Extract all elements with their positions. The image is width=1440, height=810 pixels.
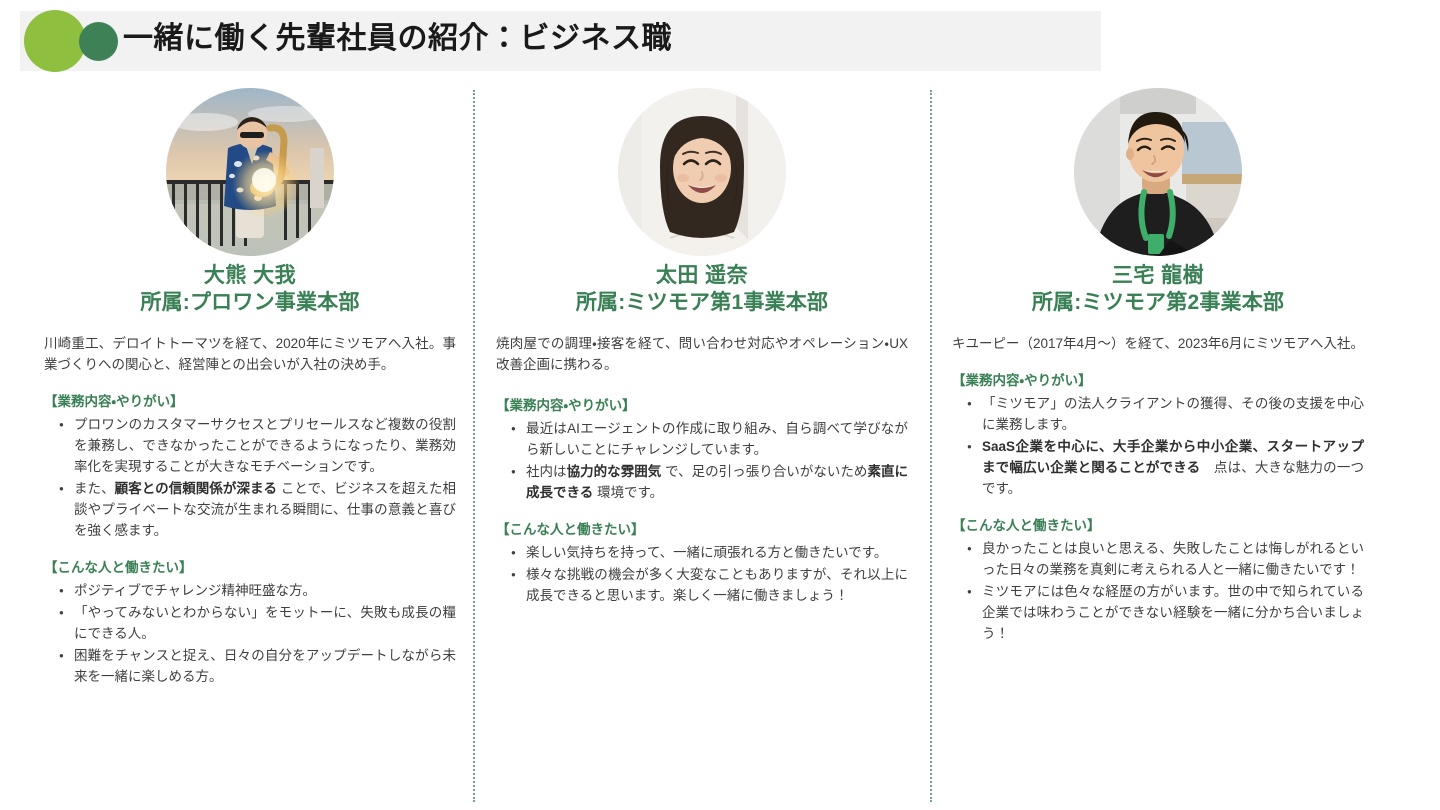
- list-item: 最近はAIエージェントの作成に取り組み、自ら調べて学びながら新しいことにチャレン…: [526, 418, 908, 460]
- people-bullet-list: 楽しい気持ちを持って、一緒に頑張れる方と働きたいです。様々な挑戦の機会が多く大変…: [496, 542, 908, 606]
- people-bullet-list: ポジティブでチャレンジ精神旺盛な方。「やってみないとわからない」をモットーに、失…: [44, 580, 456, 687]
- profile-affiliation: 所属:プロワン事業本部: [40, 289, 460, 317]
- list-item: 「やってみないとわからない」をモットーに、失敗も成長の糧にできる人。: [74, 602, 456, 644]
- profile-card-2: 三宅 龍樹 所属:ミツモア第2事業本部 キユーピー（2017年4月～）を経て、2…: [948, 82, 1368, 810]
- list-item: 社内は協力的な雰囲気 で、足の引っ張り合いがないため素直に成長できる 環境です。: [526, 461, 908, 503]
- list-item: 様々な挑戦の機会が多く大変なこともありますが、それ以上に成長できると思います。楽…: [526, 564, 908, 606]
- list-item: ミツモアには色々な経歴の方がいます。世の中で知られている企業では味わうことができ…: [982, 581, 1364, 644]
- profile-name: 三宅 龍樹: [948, 263, 1368, 289]
- work-bullet-list: プロワンのカスタマーサクセスとプリセールスなど複数の役割を兼務し、できなかったこ…: [44, 414, 456, 541]
- list-item: また、顧客との信頼関係が深まる ことで、ビジネスを超えた相談やプライベートな交流…: [74, 478, 456, 541]
- avatar: [618, 88, 786, 256]
- avatar-wrap: [492, 82, 912, 257]
- section-title-people: 【こんな人と働きたい】: [952, 515, 1364, 536]
- profile-affiliation: 所属:ミツモア第1事業本部: [492, 289, 912, 317]
- avatar-wrap: [40, 82, 460, 257]
- profile-body: 焼肉屋での調理・接客を経て、問い合わせ対応やオペレーション・UX改善企画に携わる…: [492, 333, 912, 606]
- profile-name: 太田 遥奈: [492, 263, 912, 289]
- list-item: 困難をチャンスと捉え、日々の自分をアップデートしながら未来を一緒に楽しめる方。: [74, 645, 456, 687]
- page-header: 一緒に働く先輩社員の紹介：ビジネス職: [0, 0, 1440, 82]
- portrait-man-lanyard-icon: [1074, 88, 1242, 256]
- list-item: 「ミツモア」の法人クライアントの獲得、その後の支援を中心に業務します。: [982, 393, 1364, 435]
- page-title: 一緒に働く先輩社員の紹介：ビジネス職: [123, 17, 672, 61]
- avatar: [166, 88, 334, 256]
- profile-intro: 川崎重工、デロイトトーマツを経て、2020年にミツモアへ入社。事業づくりへの関心…: [44, 333, 456, 375]
- column-divider-1: [473, 90, 475, 802]
- section-title-people: 【こんな人と働きたい】: [44, 557, 456, 578]
- avatar: [1074, 88, 1242, 256]
- list-item: プロワンのカスタマーサクセスとプリセールスなど複数の役割を兼務し、できなかったこ…: [74, 414, 456, 477]
- work-bullet-list: 「ミツモア」の法人クライアントの獲得、その後の支援を中心に業務します。SaaS企…: [952, 393, 1364, 499]
- list-item: ポジティブでチャレンジ精神旺盛な方。: [74, 580, 456, 601]
- profile-intro: キユーピー（2017年4月～）を経て、2023年6月にミツモアへ入社。: [952, 333, 1364, 354]
- profiles-container: 大熊 大我 所属:プロワン事業本部 川崎重工、デロイトトーマツを経て、2020年…: [0, 82, 1440, 810]
- profile-affiliation: 所属:ミツモア第2事業本部: [948, 289, 1368, 317]
- logo-circle-large-icon: [24, 10, 86, 72]
- portrait-smiling-woman-icon: [618, 88, 786, 256]
- logo-circle-small-icon: [79, 22, 118, 61]
- profile-card-1: 太田 遥奈 所属:ミツモア第1事業本部 焼肉屋での調理・接客を経て、問い合わせ対…: [492, 82, 912, 810]
- column-divider-2: [930, 90, 932, 802]
- portrait-sunset-saxophone-icon: [166, 88, 334, 256]
- profile-body: 川崎重工、デロイトトーマツを経て、2020年にミツモアへ入社。事業づくりへの関心…: [40, 333, 460, 687]
- profile-card-0: 大熊 大我 所属:プロワン事業本部 川崎重工、デロイトトーマツを経て、2020年…: [40, 82, 460, 810]
- section-title-work: 【業務内容・やりがい】: [44, 391, 456, 412]
- list-item: 楽しい気持ちを持って、一緒に頑張れる方と働きたいです。: [526, 542, 908, 563]
- section-title-people: 【こんな人と働きたい】: [496, 519, 908, 540]
- profile-name: 大熊 大我: [40, 263, 460, 289]
- avatar-wrap: [948, 82, 1368, 257]
- section-title-work: 【業務内容・やりがい】: [496, 395, 908, 416]
- list-item: 良かったことは良いと思える、失敗したことは悔しがれるといった日々の業務を真剣に考…: [982, 538, 1364, 580]
- section-title-work: 【業務内容・やりがい】: [952, 370, 1364, 391]
- profile-intro: 焼肉屋での調理・接客を経て、問い合わせ対応やオペレーション・UX改善企画に携わる…: [496, 333, 908, 375]
- people-bullet-list: 良かったことは良いと思える、失敗したことは悔しがれるといった日々の業務を真剣に考…: [952, 538, 1364, 644]
- profile-body: キユーピー（2017年4月～）を経て、2023年6月にミツモアへ入社。 【業務内…: [948, 333, 1368, 644]
- list-item: SaaS企業を中心に、大手企業から中小企業、スタートアップまで幅広い企業と関るこ…: [982, 436, 1364, 499]
- work-bullet-list: 最近はAIエージェントの作成に取り組み、自ら調べて学びながら新しいことにチャレン…: [496, 418, 908, 503]
